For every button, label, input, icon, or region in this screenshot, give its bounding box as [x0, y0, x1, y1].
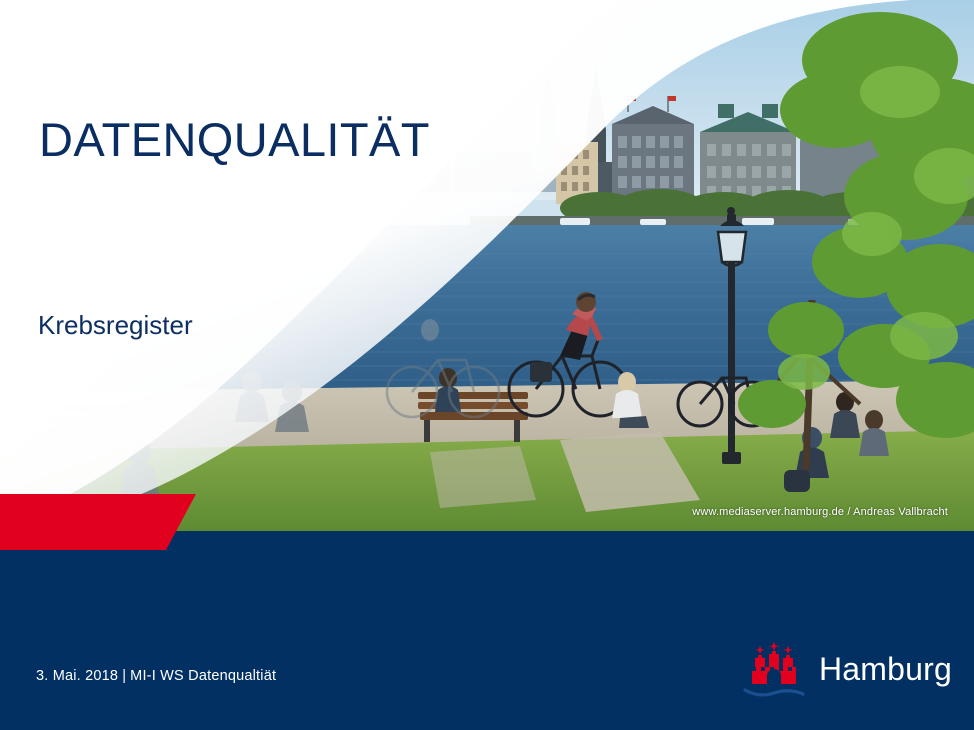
footer-date: 3. Mai. 2018 [36, 668, 118, 684]
hamburg-coat-of-arms-castle-icon [743, 642, 805, 698]
photo-credit: www.mediaserver.hamburg.de / Andreas Val… [692, 506, 948, 518]
hamburg-logo: Hamburg [743, 642, 952, 698]
footer-bar [0, 531, 974, 730]
hamburg-wordmark: Hamburg [819, 653, 952, 688]
footer-meta: 3. Mai. 2018|MI-I WS Datenqualtiät [36, 668, 276, 684]
presentation-slide: DATENQUALITÄT Krebsregister www.mediaser… [0, 0, 974, 730]
footer-event: MI-I WS Datenqualtiät [130, 668, 276, 684]
page-title: DATENQUALITÄT [39, 112, 430, 167]
red-accent-band [0, 494, 200, 550]
page-subtitle: Krebsregister [38, 310, 193, 341]
hero-photo: DATENQUALITÄT Krebsregister www.mediaser… [0, 0, 974, 533]
hero-photo-illustration [0, 0, 974, 533]
footer-separator: | [118, 668, 130, 684]
